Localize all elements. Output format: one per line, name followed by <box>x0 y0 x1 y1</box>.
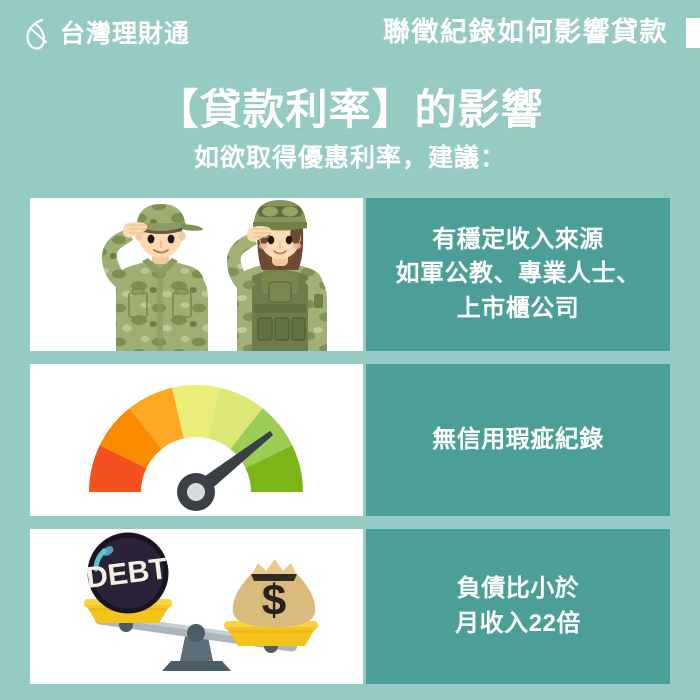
advice-line: 月收入22倍 <box>455 607 581 641</box>
advice-line: 有穩定收入來源 <box>396 223 641 257</box>
money-pan: $ <box>224 559 318 646</box>
illustration-panel-scale: DEBT $ <box>30 529 363 684</box>
advice-line: 上市櫃公司 <box>396 292 641 326</box>
page-subtitle: 如欲取得優惠利率，建議： <box>0 143 700 173</box>
advice-text-lines: 無信用瑕疵紀錄 <box>426 423 610 457</box>
advice-text-lines: 負債比小於 月收入22倍 <box>449 572 587 640</box>
brand-logo[interactable]: 台灣理財通 <box>22 17 190 51</box>
advice-text-lines: 有穩定收入來源 如軍公教、專業人士、 上市櫃公司 <box>390 223 647 325</box>
advice-line: 負債比小於 <box>455 572 581 606</box>
advice-rows: 有穩定收入來源 如軍公教、專業人士、 上市櫃公司 <box>30 198 670 697</box>
advice-row-no-credit-flaw: 無信用瑕疵紀錄 <box>30 364 670 516</box>
advice-row-debt-ratio: DEBT $ <box>30 529 670 684</box>
male-soldier <box>102 204 208 351</box>
illustration-panel-gauge <box>30 364 363 516</box>
illustration-panel-soldiers <box>30 198 363 351</box>
debt-balance-scale-illustration: DEBT $ <box>30 529 363 684</box>
debt-pan: DEBT <box>84 535 172 623</box>
money-bag-symbol: $ <box>262 576 286 625</box>
title-block: 【貸款利率】的影響 如欲取得優惠利率，建議： <box>0 86 700 173</box>
page-title: 【貸款利率】的影響 <box>0 86 700 134</box>
advice-line: 無信用瑕疵紀錄 <box>432 423 604 457</box>
taiwan-outline-icon <box>22 17 52 51</box>
advice-line: 如軍公教、專業人士、 <box>396 257 641 291</box>
saluting-soldiers-illustration <box>30 198 363 351</box>
header-edge-marker <box>686 18 700 48</box>
female-soldier <box>227 200 327 351</box>
advice-text-panel-stable-income: 有穩定收入來源 如軍公教、專業人士、 上市櫃公司 <box>366 198 670 351</box>
advice-row-stable-income: 有穩定收入來源 如軍公教、專業人士、 上市櫃公司 <box>30 198 670 351</box>
money-bag: $ <box>233 559 315 627</box>
advice-text-panel-no-credit-flaw: 無信用瑕疵紀錄 <box>366 364 670 516</box>
header-topic-title: 聯徵紀錄如何影響貸款 <box>383 16 668 48</box>
credit-score-gauge-illustration <box>30 364 363 516</box>
advice-text-panel-debt-ratio: 負債比小於 月收入22倍 <box>366 529 670 684</box>
page-header: 台灣理財通 聯徵紀錄如何影響貸款 <box>0 0 700 62</box>
brand-name: 台灣理財通 <box>60 22 190 47</box>
